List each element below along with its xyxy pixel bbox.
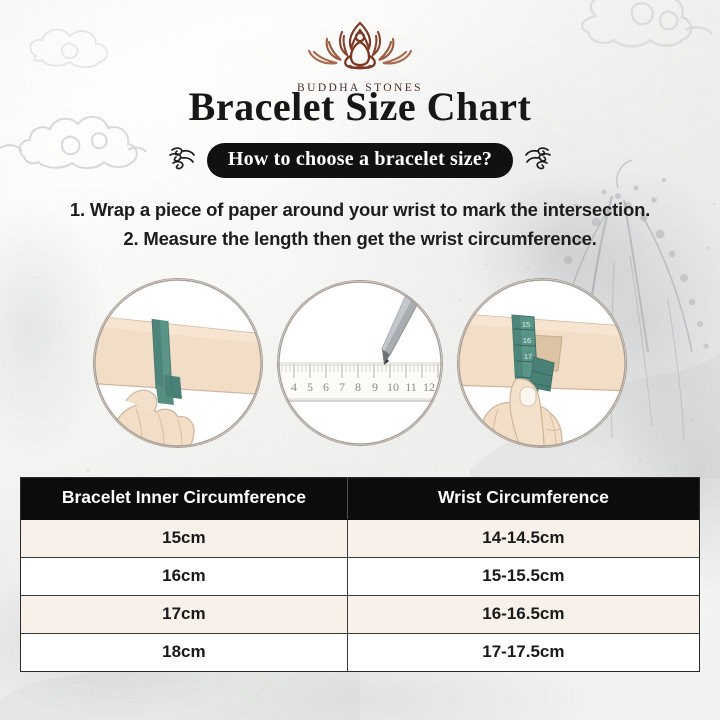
- ruler-tick-11: 11: [405, 380, 417, 394]
- ruler-tick-4: 4: [291, 380, 297, 394]
- instruction-step-1: 1. Wrap a piece of paper around your wri…: [0, 196, 720, 225]
- tape-number-15: 15: [522, 320, 530, 329]
- ruler-tick-12: 12: [423, 380, 435, 394]
- ruler-tick-10: 10: [387, 380, 399, 394]
- brand-logo: BUDDHA STONES: [0, 18, 720, 94]
- cell-bracelet-circumference: 15cm: [21, 520, 348, 557]
- cell-bracelet-circumference: 18cm: [21, 634, 348, 671]
- cell-wrist-circumference: 15-15.5cm: [348, 558, 699, 595]
- cell-bracelet-circumference: 17cm: [21, 596, 348, 633]
- table-header-row: Bracelet Inner Circumference Wrist Circu…: [21, 478, 699, 520]
- column-header-bracelet: Bracelet Inner Circumference: [21, 478, 348, 519]
- instruction-step-2: 2. Measure the length then get the wrist…: [0, 225, 720, 254]
- instruction-steps: 1. Wrap a piece of paper around your wri…: [0, 196, 720, 253]
- table-row: 18cm 17-17.5cm: [21, 634, 699, 671]
- ruler-tick-9: 9: [372, 380, 378, 394]
- ruler-tick-5: 5: [307, 380, 313, 394]
- wrist-measured-with-tape: 15 16 17: [457, 278, 627, 448]
- cell-wrist-circumference: 17-17.5cm: [348, 634, 699, 671]
- ruler-tick-3: 3: [278, 380, 281, 394]
- flourish-ornament-icon: [168, 143, 198, 178]
- ruler-tick-6: 6: [323, 380, 329, 394]
- size-table: Bracelet Inner Circumference Wrist Circu…: [20, 477, 700, 672]
- column-header-wrist: Wrist Circumference: [348, 478, 699, 519]
- flourish-ornament-icon: [522, 143, 552, 178]
- tape-number-17: 17: [524, 352, 532, 361]
- ruler-tick-7: 7: [339, 380, 345, 394]
- cell-wrist-circumference: 14-14.5cm: [348, 520, 699, 557]
- ruler-tick-8: 8: [355, 380, 361, 394]
- table-row: 17cm 16-16.5cm: [21, 596, 699, 634]
- lotus-meditation-icon: [301, 18, 419, 81]
- table-row: 16cm 15-15.5cm: [21, 558, 699, 596]
- tape-number-16: 16: [523, 336, 531, 345]
- banner-label: How to choose a bracelet size?: [207, 143, 513, 178]
- page-title: Bracelet Size Chart: [0, 86, 720, 128]
- size-chart-page: BUDDHA STONES Bracelet Size Chart How to…: [0, 0, 720, 720]
- ruler-measuring-with-pencil: 3 4 5 6 7 8 9 10 11 12: [277, 280, 443, 446]
- cell-wrist-circumference: 16-16.5cm: [348, 596, 699, 633]
- illustration-row: 3 4 5 6 7 8 9 10 11 12: [0, 278, 720, 448]
- wrist-wrapped-with-paper-strip: [93, 278, 263, 448]
- how-to-banner: How to choose a bracelet size?: [0, 143, 720, 178]
- cell-bracelet-circumference: 16cm: [21, 558, 348, 595]
- table-row: 15cm 14-14.5cm: [21, 520, 699, 558]
